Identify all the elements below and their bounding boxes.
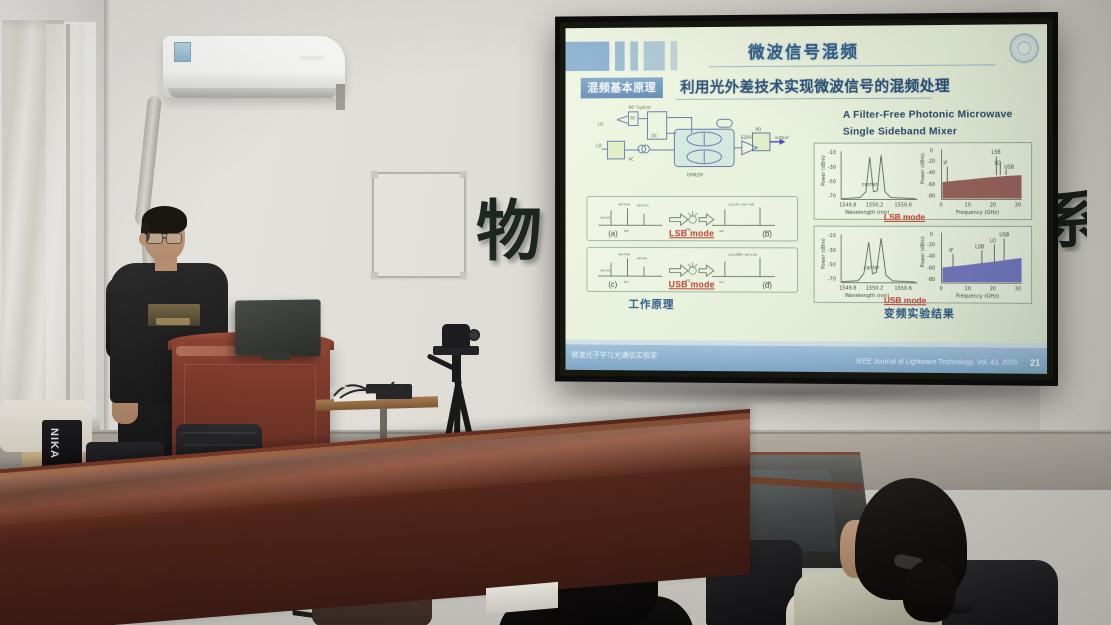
- svg-text:LD: LD: [596, 143, 602, 149]
- svg-text:-20: -20: [927, 242, 935, 248]
- lsb-mode-label: LSB mode: [669, 228, 714, 238]
- svg-text:ω₀-ω₁: ω₀-ω₁: [637, 256, 648, 260]
- window-mullion: [66, 24, 70, 422]
- svg-text:30: 30: [1015, 286, 1021, 292]
- caption-experiment-results: 变频实验结果: [884, 305, 955, 321]
- svg-text:0: 0: [930, 148, 933, 154]
- panel-label-d: (d): [762, 281, 771, 290]
- svg-text:DPMZM: DPMZM: [687, 172, 703, 178]
- monitor-bezel-strip: [293, 610, 313, 618]
- right-heading-line-2: Single Sideband Mixer: [843, 123, 1036, 141]
- slide-section-badge: 混频基本原理: [581, 77, 663, 98]
- presenter-glasses-left-lens: [146, 233, 163, 244]
- svg-text:ω₁: ω₁: [719, 280, 724, 284]
- svg-text:LO: LO: [598, 122, 604, 128]
- wall-character-wu: 物: [476, 199, 542, 265]
- air-conditioner-vent: [168, 88, 336, 98]
- svg-text:-30: -30: [828, 248, 836, 254]
- slide-right-heading: A Filter-Free Photonic Microwave Single …: [843, 106, 1036, 141]
- usb-mode-panel: ω₀-ω₂ω₀+ω₁ ω₀-ω₁ω₀ ω₁,USB−ω₂+ω₁ω₁ ω₂: [586, 247, 798, 293]
- curtain-right: [46, 24, 84, 416]
- svg-text:-30: -30: [828, 165, 836, 171]
- optical-system-schematic: 90° hybrid LO LD PC DPMZM EDFA PD output…: [596, 103, 788, 186]
- svg-text:output: output: [775, 135, 789, 141]
- svg-text:-40: -40: [927, 254, 935, 260]
- svg-text:-80: -80: [927, 277, 935, 283]
- panel-corner-tl: [371, 171, 378, 178]
- svg-text:Power (dBm): Power (dBm): [920, 236, 926, 267]
- svg-text:carrier: carrier: [862, 182, 878, 188]
- cable-bundle: [330, 378, 420, 400]
- svg-text:-60: -60: [927, 265, 935, 271]
- svg-text:IF: IF: [943, 161, 947, 167]
- air-conditioner-sticker: [174, 42, 191, 62]
- svg-text:-40: -40: [927, 170, 935, 176]
- svg-text:20: 20: [990, 286, 996, 292]
- slide-title-rule: [709, 64, 995, 67]
- wall-corner-edge: [104, 0, 109, 470]
- right-heading-line-1: A Filter-Free Photonic Microwave: [843, 106, 1036, 124]
- svg-text:1550.2: 1550.2: [866, 202, 883, 208]
- svg-text:ω₁,USB−ω₂+ω₁: ω₁,USB−ω₂+ω₁: [729, 253, 758, 257]
- panel-label-a: (a): [608, 229, 617, 238]
- svg-text:1550.6: 1550.6: [895, 202, 912, 208]
- black-bag-label: NIKA: [48, 428, 59, 459]
- svg-text:ω₀+ω₂: ω₀+ω₂: [637, 203, 650, 207]
- podium-monitor: [235, 299, 320, 356]
- slide-footer-citation: IEEE Journal of Lightwave Technology, Vo…: [856, 358, 1017, 366]
- svg-text:LSB: LSB: [992, 150, 1001, 156]
- svg-text:-10: -10: [828, 233, 836, 239]
- measured-spectra-usb: -10-30 -50-70 1549.81550.21550.6 Power (…: [814, 226, 1032, 304]
- lsb-mode-panel: ω₀-ω₁ω₀+ω₁ ω₀+ω₂ω₀ ω₁,LO−ω₂−ω₁ω₁ ω₂: [586, 196, 798, 241]
- svg-text:-80: -80: [927, 194, 935, 200]
- svg-text:ω₀-ω₂: ω₀-ω₂: [600, 268, 611, 272]
- svg-text:LO: LO: [990, 238, 997, 244]
- svg-text:ω₀+ω₁: ω₀+ω₁: [618, 202, 631, 206]
- slide-subtitle: 利用光外差技术实现微波信号的混频处理: [680, 75, 950, 97]
- svg-text:0: 0: [930, 232, 933, 238]
- panel-label-c: (c): [608, 280, 617, 289]
- slide-footer: 微波光子学与光通信实验室 IEEE Journal of Lightwave T…: [566, 344, 1048, 373]
- svg-text:0: 0: [940, 202, 943, 208]
- presenter-shirt-graphic-sub: [156, 318, 190, 325]
- svg-text:-70: -70: [828, 277, 836, 283]
- panel-label-b: (b): [762, 230, 771, 239]
- presenter-glasses-bridge: [162, 237, 167, 239]
- air-conditioner-bracket: [336, 84, 345, 110]
- svg-text:1550.2: 1550.2: [866, 285, 883, 291]
- svg-text:1549.8: 1549.8: [839, 285, 856, 291]
- svg-text:EDFA: EDFA: [741, 135, 752, 141]
- svg-text:USB: USB: [999, 233, 1009, 239]
- svg-text:Frequency (GHz): Frequency (GHz): [956, 294, 999, 300]
- svg-text:ω₀: ω₀: [624, 280, 629, 284]
- camera-body: [442, 324, 470, 348]
- presentation-slide: 微波信号混频 混频基本原理 利用光外差技术实现微波信号的混频处理 A Filte…: [566, 24, 1048, 374]
- svg-text:USB: USB: [1004, 164, 1014, 170]
- svg-text:Power (dBm): Power (dBm): [920, 153, 926, 184]
- svg-text:Frequency (GHz): Frequency (GHz): [956, 210, 999, 216]
- svg-text:LSB: LSB: [975, 244, 984, 250]
- panel-corner-bl: [371, 272, 378, 279]
- svg-text:1550.6: 1550.6: [895, 286, 912, 292]
- slide-page-number: 21: [1030, 358, 1040, 368]
- svg-text:RF: RF: [630, 116, 636, 122]
- university-logo-icon: [1009, 33, 1039, 63]
- svg-text:-50: -50: [828, 179, 836, 185]
- svg-text:30: 30: [1015, 202, 1021, 208]
- air-conditioner-display: [300, 56, 324, 60]
- slide-subtitle-underline: [676, 98, 932, 100]
- caption-working-principle: 工作原理: [628, 296, 674, 312]
- presenter-glasses-right-lens: [166, 233, 182, 244]
- svg-text:-20: -20: [927, 159, 935, 165]
- panel-corner-br: [460, 272, 467, 279]
- measured-lsb-mode-label: LSB mode: [884, 212, 925, 222]
- projection-screen: 微波信号混频 混频基本原理 利用光外差技术实现微波信号的混频处理 A Filte…: [555, 12, 1058, 386]
- svg-text:carrier: carrier: [864, 265, 880, 271]
- svg-text:Power (dBm): Power (dBm): [821, 238, 827, 269]
- svg-text:ω₀+ω₁: ω₀+ω₁: [618, 252, 631, 256]
- svg-text:IF: IF: [949, 248, 953, 254]
- svg-text:-10: -10: [828, 150, 836, 156]
- svg-text:ω₁: ω₁: [719, 229, 724, 233]
- svg-text:LO: LO: [994, 160, 1001, 166]
- presentation-room-photo: 物 系 微波信号混频 混频基本原理 利用光外差技术实: [0, 0, 1111, 625]
- svg-text:-50: -50: [828, 262, 836, 268]
- slide-header: 微波信号混频: [566, 24, 1048, 73]
- wall-access-panel: [372, 172, 466, 278]
- svg-text:1549.8: 1549.8: [839, 202, 856, 208]
- svg-text:ω₁,LO−ω₂−ω₁: ω₁,LO−ω₂−ω₁: [729, 203, 755, 207]
- svg-text:DC: DC: [651, 133, 657, 139]
- panel-corner-tr: [460, 171, 467, 178]
- svg-text:Wavelength (nm): Wavelength (nm): [845, 293, 889, 299]
- svg-text:0: 0: [940, 286, 943, 292]
- svg-text:-70: -70: [828, 194, 836, 200]
- svg-text:PD: PD: [755, 127, 761, 133]
- svg-text:-60: -60: [927, 182, 935, 188]
- svg-text:10: 10: [965, 202, 971, 208]
- measured-usb-mode-label: USB mode: [884, 295, 926, 305]
- slide-footer-lab: 微波光子学与光通信实验室: [571, 349, 657, 360]
- svg-text:PC: PC: [628, 157, 633, 163]
- usb-mode-label: USB mode: [669, 279, 715, 289]
- svg-text:Wavelength (nm): Wavelength (nm): [845, 210, 889, 216]
- measured-spectra-lsb: -10-30 -50-70 1549.81550.21550.6 Power (…: [814, 142, 1032, 220]
- svg-text:ω₀-ω₁: ω₀-ω₁: [600, 216, 611, 220]
- svg-text:90° hybrid: 90° hybrid: [628, 105, 650, 111]
- camera-lens-icon: [468, 329, 480, 341]
- svg-text:Power (dBm): Power (dBm): [821, 155, 827, 186]
- svg-text:20: 20: [990, 202, 996, 208]
- slide-title: 微波信号混频: [566, 36, 1048, 64]
- slide-subtitle-row: 混频基本原理 利用光外差技术实现微波信号的混频处理: [577, 74, 1035, 100]
- monitor-stand: [262, 352, 290, 360]
- svg-text:ω₀: ω₀: [624, 229, 629, 233]
- svg-text:10: 10: [965, 286, 971, 292]
